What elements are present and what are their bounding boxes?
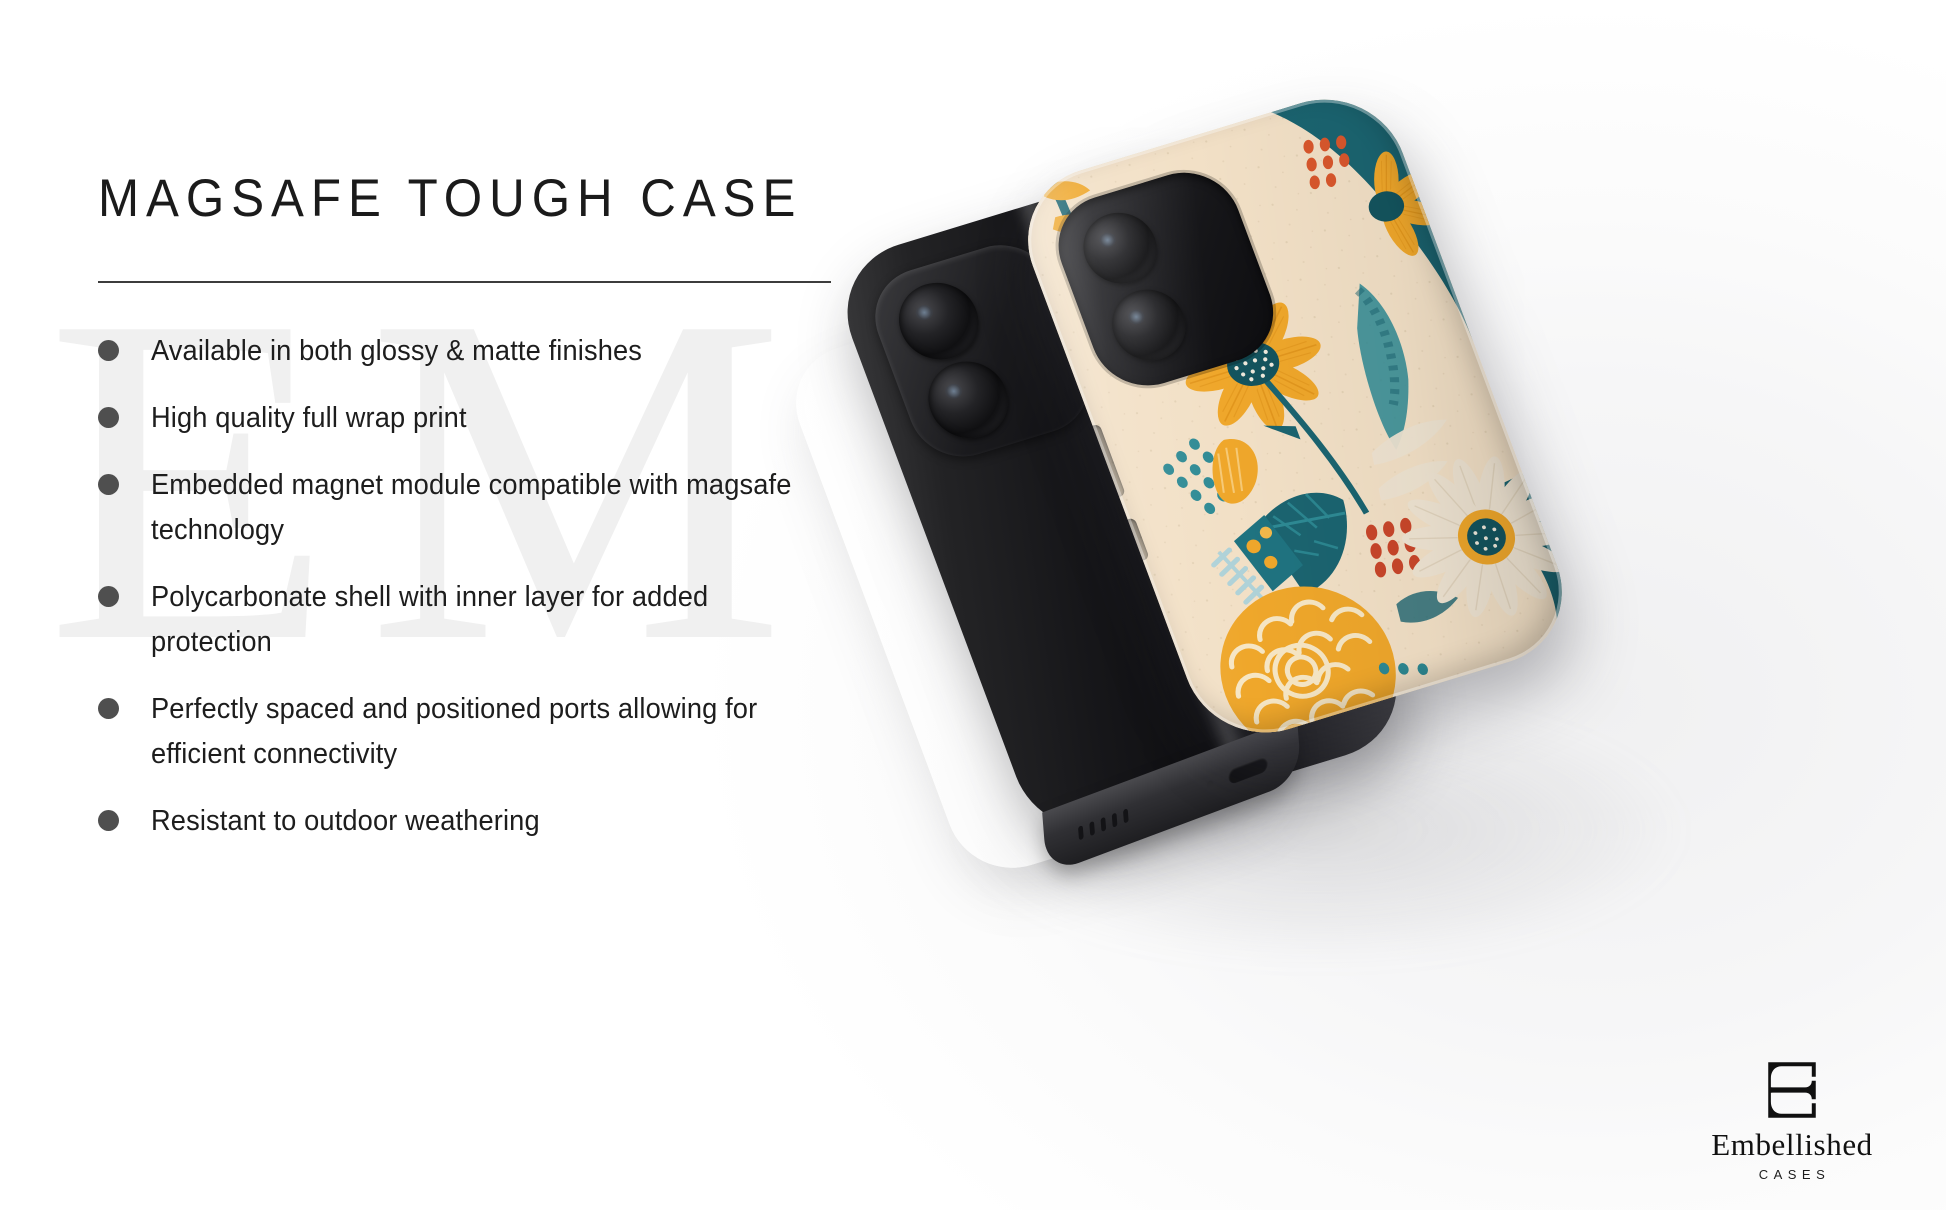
speaker-grille-icon (1078, 808, 1129, 840)
bullet-icon (98, 586, 119, 607)
product-photo (840, 0, 1946, 1060)
page-title: MAGSAFE TOUGH CASE (98, 168, 805, 229)
camera-lens-icon (917, 352, 1019, 448)
feature-label: Polycarbonate shell with inner layer for… (151, 575, 826, 665)
feature-text-column: MAGSAFE TOUGH CASE Available in both glo… (98, 168, 858, 866)
embellished-e-monogram-icon (1759, 1057, 1825, 1123)
usb-c-port-icon (1228, 755, 1269, 785)
list-item: Available in both glossy & matte finishe… (98, 329, 858, 374)
bullet-icon (98, 810, 119, 831)
product-feature-banner: EM MAGSAFE TOUGH CASE Available in both … (0, 0, 1946, 1210)
brand-logo: Embellished CASES (1692, 1057, 1892, 1182)
list-item: Perfectly spaced and positioned ports al… (98, 687, 858, 777)
logo-subtext: CASES (1692, 1167, 1892, 1182)
feature-label: Perfectly spaced and positioned ports al… (151, 687, 826, 777)
camera-lens-icon (1073, 204, 1167, 293)
list-item: Resistant to outdoor weathering (98, 799, 858, 844)
feature-label: Available in both glossy & matte finishe… (151, 329, 642, 374)
list-item: High quality full wrap print (98, 396, 858, 441)
feature-label: Resistant to outdoor weathering (151, 799, 540, 844)
camera-lens-icon (888, 273, 990, 369)
feature-label: High quality full wrap print (151, 396, 467, 441)
feature-list: Available in both glossy & matte finishe… (98, 329, 858, 844)
bullet-icon (98, 474, 119, 495)
bullet-icon (98, 698, 119, 719)
screw-icon (1207, 780, 1214, 790)
bullet-icon (98, 407, 119, 428)
camera-lens-icon (1102, 281, 1196, 370)
logo-wordmark: Embellished (1692, 1129, 1892, 1160)
feature-label: Embedded magnet module compatible with m… (151, 463, 826, 553)
bullet-icon (98, 340, 119, 361)
list-item: Polycarbonate shell with inner layer for… (98, 575, 858, 665)
list-item: Embedded magnet module compatible with m… (98, 463, 858, 553)
title-divider (98, 281, 831, 283)
